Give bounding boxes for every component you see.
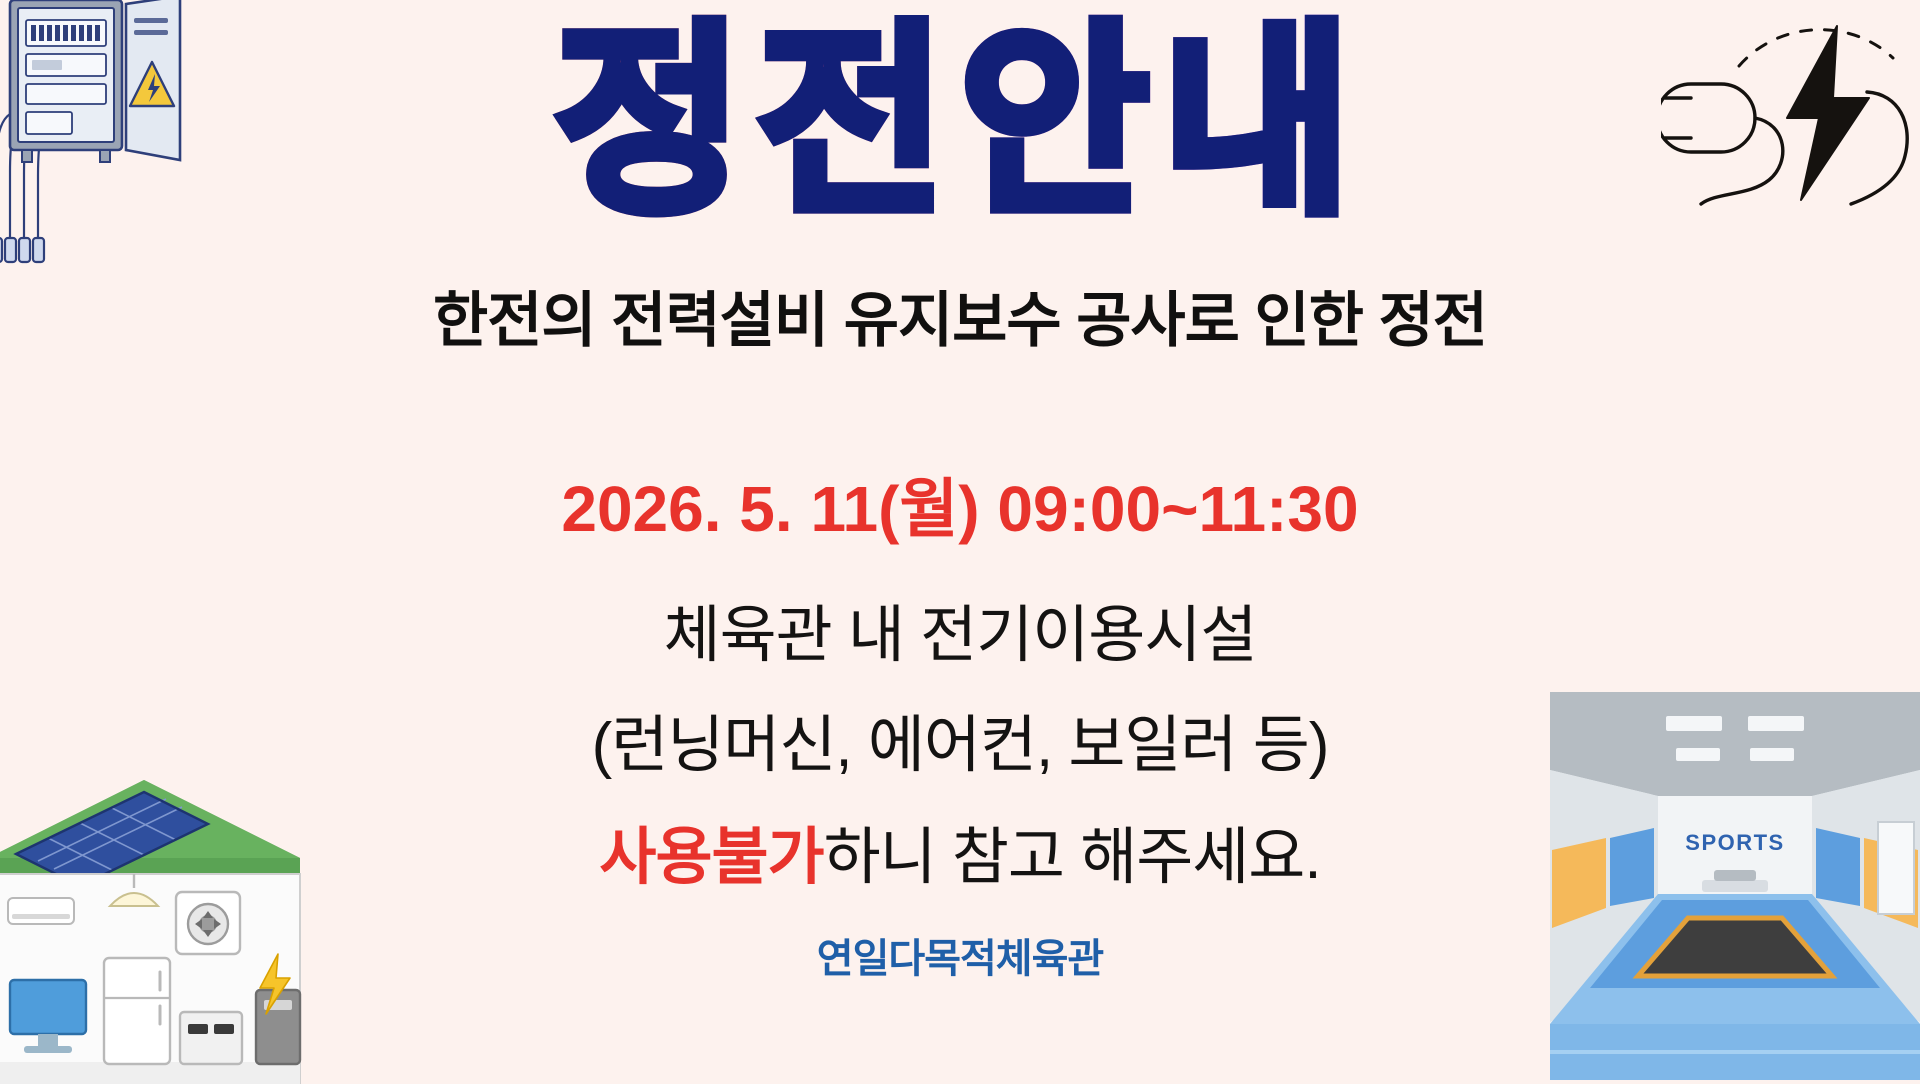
poster-title-wrap: 정전안내 <box>0 8 1920 258</box>
usage-notice-line: 사용불가하니 참고 해주세요. <box>0 806 1920 896</box>
issuing-organization: 연일다목적체육관 <box>0 926 1920 984</box>
page-title: 정전안내 <box>555 8 1365 238</box>
poster-canvas: SPORTS 정전안내 한전의 전력설비 유지보수 공사로 인한 정전 2026… <box>0 0 1920 1080</box>
affected-facilities-line: 체육관 내 전기이용시설 <box>0 584 1920 674</box>
poster-subtitle: 한전의 전력설비 유지보수 공사로 인한 정전 <box>0 272 1920 359</box>
usage-notice-rest: 하니 참고 해주세요. <box>824 823 1321 892</box>
outage-datetime: 2026. 5. 11(월) 09:00~11:30 <box>0 458 1920 550</box>
usage-unavailable-emphasis: 사용불가 <box>599 823 823 892</box>
affected-equipment-list: (런닝머신, 에어컨, 보일러 등) <box>0 694 1920 784</box>
